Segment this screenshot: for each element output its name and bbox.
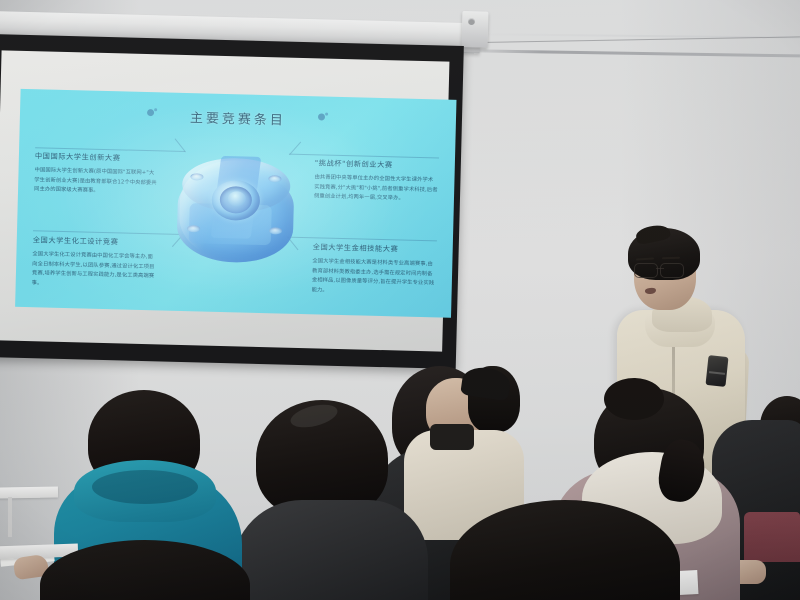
slide-title: 主要竞赛条目 bbox=[20, 103, 456, 133]
slide-center-graphic-3d-part bbox=[164, 129, 308, 292]
slide-block-heading: 全国大学生金相技能大赛 bbox=[313, 242, 437, 255]
slide-block-heading: "挑战杯"创新创业大赛 bbox=[315, 158, 439, 171]
classroom-photo-scene: 主要竞赛条目 bbox=[0, 0, 800, 600]
audience-collar bbox=[430, 424, 474, 450]
slide-block-bottom-right: 全国大学生金相技能大赛 全国大学生金相技能大赛是材料类专业高端赛事,由教育部材料… bbox=[311, 242, 436, 299]
slide-block-bottom-left: 全国大学生化工设计竞赛 全国大学生化工设计竞赛由中国化工学会等主办,面向全日制本… bbox=[32, 235, 157, 292]
audience-hair-bun bbox=[604, 378, 664, 420]
slide-block-top-left: 中国国际大学生创新大赛 中国国际大学生创新大赛(原中国国际"互联网+"大学生创新… bbox=[34, 151, 159, 198]
part-bolt-hole bbox=[190, 173, 203, 180]
desk-leg bbox=[8, 497, 12, 537]
slide-block-body: 由共青团中央等单位主办的全国性大学生课外学术实践竞赛,分"大挑"和"小挑",前者… bbox=[314, 173, 439, 205]
connector-line-bottom-right bbox=[287, 237, 437, 242]
projection-screen: 主要竞赛条目 bbox=[0, 34, 464, 369]
slide-block-heading: 全国大学生化工设计竞赛 bbox=[33, 235, 157, 248]
audience-hood-shadow bbox=[92, 470, 198, 504]
red-chair bbox=[744, 512, 800, 562]
presentation-slide: 主要竞赛条目 bbox=[15, 89, 456, 318]
slide-block-body: 全国大学生化工设计竞赛由中国化工学会等主办,面向全日制本科大学生,以团队参赛,通… bbox=[32, 250, 157, 292]
slide-block-top-right: "挑战杯"创新创业大赛 由共青团中央等单位主办的全国性大学生课外学术实践竞赛,分… bbox=[314, 158, 439, 205]
connector-line-top-right bbox=[289, 154, 439, 159]
projection-screen-surface: 主要竞赛条目 bbox=[0, 50, 449, 351]
part-bolt-hole bbox=[187, 225, 200, 232]
slide-block-body: 中国国际大学生创新大赛(原中国国际"互联网+"大学生创新创业大赛)是由教育部联合… bbox=[34, 166, 159, 198]
roller-mount-screw-icon bbox=[468, 18, 475, 25]
slide-block-body: 全国大学生金相技能大赛是材料类专业高端赛事,由教育部材料类教指委主办,选手需在规… bbox=[311, 257, 436, 299]
presenter-glasses-bridge bbox=[656, 268, 664, 269]
part-bolt-hole bbox=[268, 175, 281, 182]
slide-block-heading: 中国国际大学生创新大赛 bbox=[35, 151, 159, 164]
audience-jacket bbox=[232, 500, 428, 600]
part-bolt-hole bbox=[269, 227, 282, 234]
presenter-glasses-icon bbox=[634, 263, 690, 276]
roller-end-cap bbox=[462, 11, 489, 48]
connector-line-bottom-left bbox=[33, 230, 183, 235]
